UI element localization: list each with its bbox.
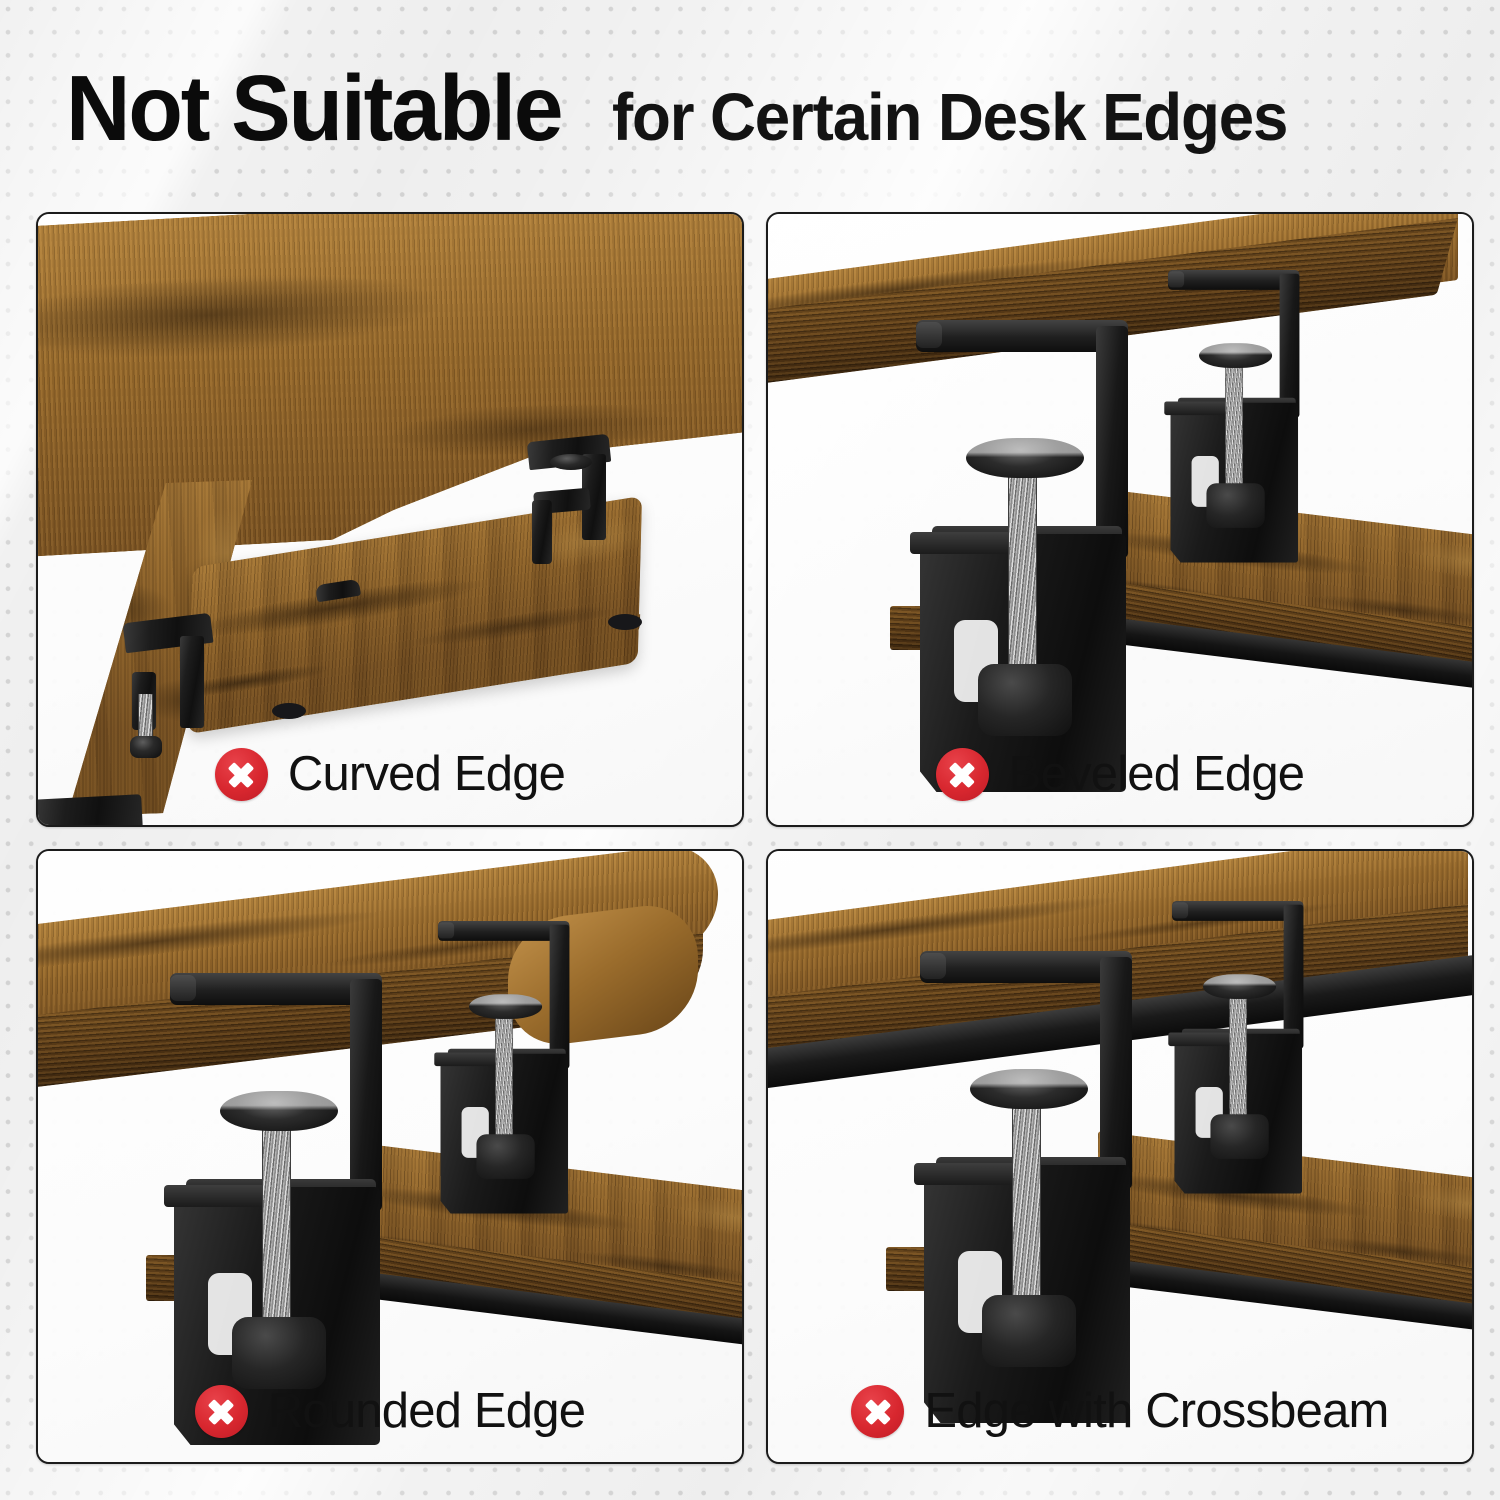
caption-edge-with-crossbeam: Edge with Crossbeam xyxy=(768,1385,1472,1438)
clamp-knob-bottom xyxy=(982,1295,1076,1367)
clamp-vertical-arm xyxy=(1100,957,1132,1189)
clamp-vertical-arm xyxy=(550,925,570,1069)
clamp-vertical-arm xyxy=(1096,326,1128,558)
clamp-front xyxy=(170,973,418,1443)
clamp-vertical-arm xyxy=(1280,274,1300,418)
clamp-front xyxy=(920,951,1168,1421)
clamp-hook-tip xyxy=(438,922,454,938)
clamp-back xyxy=(1172,901,1326,1192)
caption-label: Curved Edge xyxy=(288,750,565,799)
clamp-hook-tip xyxy=(170,975,196,1001)
clamp-vertical-arm xyxy=(350,979,382,1211)
scene-rounded-edge xyxy=(38,851,742,1462)
caption-label: Beveled Edge xyxy=(1009,750,1305,799)
clamp-hook-tip xyxy=(1172,902,1188,918)
clamp-screw xyxy=(262,1119,291,1349)
clamp-screw xyxy=(1225,361,1243,504)
clamp-knob-top xyxy=(966,438,1084,478)
caption-rounded-edge: Rounded Edge xyxy=(38,1385,742,1438)
panel-rounded-edge: Rounded Edge xyxy=(36,849,744,1464)
clamp-knob-top xyxy=(469,994,542,1019)
title-main: Not Suitable xyxy=(66,62,561,155)
panel-beveled-edge: Beveled Edge xyxy=(766,212,1474,827)
clamp-knob-bottom xyxy=(476,1134,534,1179)
tray-foot-right xyxy=(608,614,642,630)
clamp-knob xyxy=(550,454,592,470)
clamp-leg xyxy=(532,500,552,564)
clamp-knob-top xyxy=(1199,343,1272,368)
scene-beveled-edge xyxy=(768,214,1472,825)
caption-label: Edge with Crossbeam xyxy=(924,1387,1388,1436)
clamp-screw xyxy=(495,1012,513,1155)
panel-grid: Curved Edge xyxy=(36,212,1464,1464)
clamp-knob-bottom xyxy=(232,1317,326,1389)
x-mark-icon xyxy=(851,1385,904,1438)
caption-curved-edge: Curved Edge xyxy=(38,748,742,801)
clamp-support-shelf xyxy=(164,1185,268,1207)
clamp-right xyxy=(524,438,616,566)
title-subtitle: for Certain Desk Edges xyxy=(612,84,1287,151)
x-mark-icon xyxy=(936,748,989,801)
clamp-rig-crossbeam xyxy=(768,851,1472,1462)
clamp-knob-bottom xyxy=(1210,1114,1268,1159)
clamp-hook-tip xyxy=(916,322,942,348)
clamp-rig-beveled xyxy=(768,214,1472,825)
clamp-back-arm xyxy=(180,636,204,728)
caption-label: Rounded Edge xyxy=(268,1387,585,1436)
clamp-support-shelf xyxy=(434,1052,498,1066)
panel-edge-with-crossbeam: Edge with Crossbeam xyxy=(766,849,1474,1464)
clamp-support-shelf xyxy=(1168,1032,1232,1046)
x-mark-icon xyxy=(195,1385,248,1438)
scene-edge-with-crossbeam xyxy=(768,851,1472,1462)
x-mark-icon xyxy=(215,748,268,801)
clamp-hook-tip xyxy=(920,953,946,979)
clamp-knob-top xyxy=(1203,974,1276,999)
page-title: Not Suitable for Certain Desk Edges xyxy=(0,62,1500,170)
clamp-knob-top xyxy=(220,1091,338,1131)
clamp-knob-bottom xyxy=(978,664,1072,736)
infographic-root: Not Suitable for Certain Desk Edges xyxy=(0,0,1500,1500)
clamp-screw xyxy=(1008,466,1037,696)
clamp-back xyxy=(1168,270,1322,561)
tray-foot-left xyxy=(272,703,306,719)
clamp-rig-rounded xyxy=(38,851,742,1462)
scene-curved-edge xyxy=(38,214,742,825)
clamp-knob-top xyxy=(970,1069,1088,1109)
clamp-screw xyxy=(1012,1097,1041,1327)
clamp-support-shelf xyxy=(910,532,1014,554)
clamp-hook-tip xyxy=(1168,271,1184,287)
clamp-support-shelf xyxy=(1164,401,1228,415)
clamp-front xyxy=(916,320,1164,790)
panel-curved-edge: Curved Edge xyxy=(36,212,744,827)
clamp-back xyxy=(438,921,592,1212)
clamp-screw xyxy=(1229,992,1247,1135)
clamp-left xyxy=(124,618,212,758)
caption-beveled-edge: Beveled Edge xyxy=(768,748,1472,801)
clamp-support-shelf xyxy=(914,1163,1018,1185)
clamp-vertical-arm xyxy=(1284,905,1304,1049)
clamp-knob-bottom xyxy=(1206,483,1264,528)
